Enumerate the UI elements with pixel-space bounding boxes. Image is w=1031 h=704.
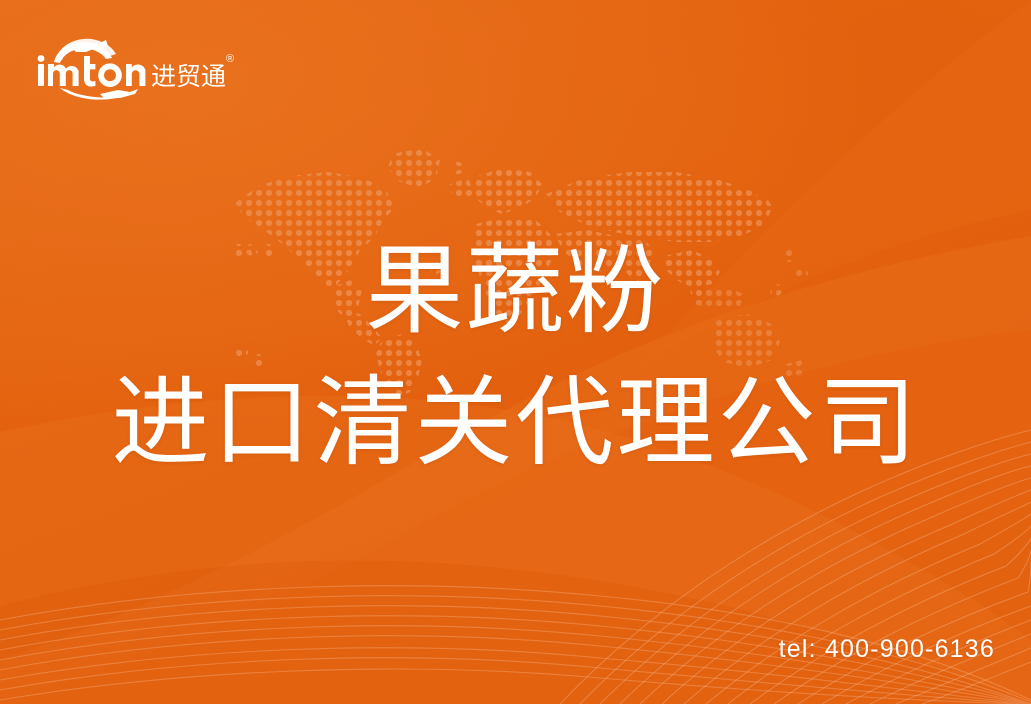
headline-line-1: 果蔬粉 bbox=[0, 232, 1031, 348]
contact-phone[interactable]: tel: 400-900-6136 bbox=[779, 635, 995, 664]
headline-line-2: 进口清关代理公司 bbox=[0, 364, 1031, 480]
promo-banner: 进贸通 ® 果蔬粉 进口清关代理公司 tel: 400-900-6136 bbox=[0, 0, 1031, 704]
imton-wordmark bbox=[38, 55, 146, 87]
svg-text:®: ® bbox=[226, 53, 234, 65]
brand-logo[interactable]: 进贸通 ® bbox=[34, 28, 239, 100]
chinese-wordmark: 进贸通 ® bbox=[151, 53, 234, 91]
svg-text:进贸通: 进贸通 bbox=[151, 63, 226, 91]
swoosh-icon bbox=[60, 88, 138, 100]
headline-block: 果蔬粉 进口清关代理公司 bbox=[0, 232, 1031, 480]
